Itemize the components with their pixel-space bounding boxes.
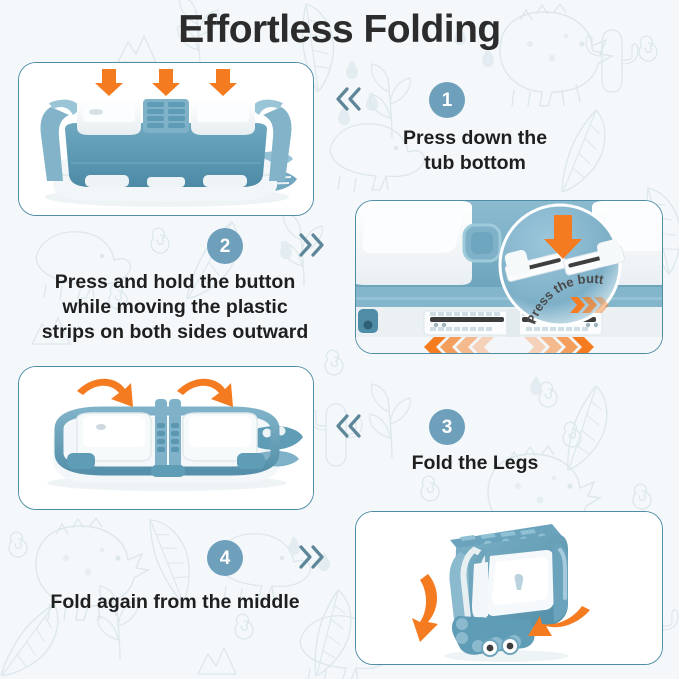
- step-text-4: Fold again from the middle: [20, 590, 330, 615]
- product-illustration-button-closeup: Press the button: [356, 201, 662, 353]
- photo-panel-step-1: [18, 62, 314, 216]
- step-text-2: Press and hold the button while moving t…: [20, 270, 330, 345]
- chevron-double-right-icon: [296, 544, 326, 570]
- infographic-root: Effortless Folding: [0, 0, 679, 679]
- step-badge-1: 1: [429, 82, 465, 118]
- step-badge-2: 2: [207, 228, 243, 264]
- product-illustration-folded-upright: [356, 512, 662, 664]
- step-badge-3: 3: [429, 409, 465, 445]
- step-text-1: Press down the tub bottom: [330, 126, 620, 176]
- step-badge-4: 4: [207, 540, 243, 576]
- photo-panel-step-4: [355, 511, 663, 665]
- photo-panel-step-3: [18, 366, 314, 510]
- chevron-double-left-icon: [334, 86, 364, 112]
- photo-panel-step-2: Press the button: [355, 200, 663, 354]
- step-2: 2 Press and hold the button while moving…: [0, 228, 345, 363]
- step-1: 1 Press down the tub bottom: [330, 78, 679, 193]
- product-illustration-flattened-top-view: [19, 367, 313, 509]
- step-text-3: Fold the Legs: [330, 451, 620, 476]
- chevron-double-left-icon: [334, 413, 364, 439]
- page-title: Effortless Folding: [0, 8, 679, 52]
- step-4: 4 Fold again from the middle: [0, 540, 345, 630]
- product-illustration-front-view: [19, 63, 313, 215]
- step-3: 3 Fold the Legs: [330, 405, 679, 495]
- chevron-double-right-icon: [296, 232, 326, 258]
